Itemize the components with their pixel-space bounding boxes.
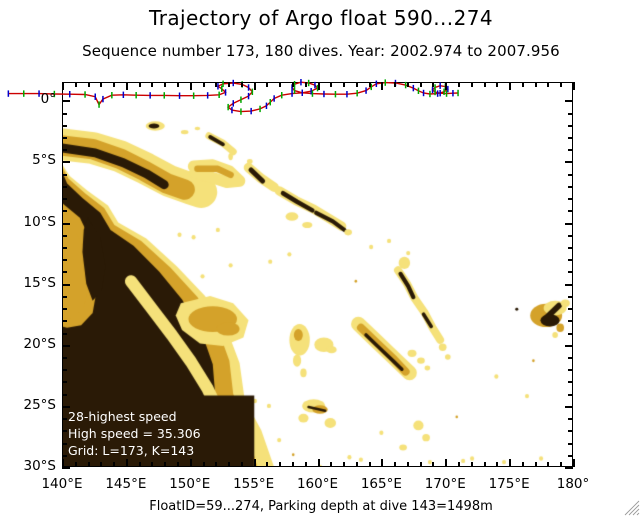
x-minor-tick-top [139, 82, 141, 87]
x-minor-tick [266, 462, 268, 467]
x-minor-tick [292, 462, 294, 467]
x-minor-tick [241, 462, 243, 467]
x-major-tick-top [190, 82, 192, 90]
y-minor-tick-right [568, 210, 573, 212]
y-minor-tick [62, 259, 67, 261]
x-major-tick [509, 459, 511, 467]
y-minor-tick-right [568, 271, 573, 273]
page-title: Trajectory of Argo float 590...274 [0, 6, 642, 30]
y-minor-tick [62, 271, 67, 273]
x-minor-tick-top [484, 82, 486, 87]
x-minor-tick-top [177, 82, 179, 87]
y-major-tick [62, 161, 70, 163]
y-minor-tick-right [568, 235, 573, 237]
y-minor-tick-right [568, 174, 573, 176]
x-minor-tick-top [432, 82, 434, 87]
figure-subtitle: Sequence number 173, 180 dives. Year: 20… [0, 42, 642, 60]
x-major-tick [573, 459, 575, 467]
resize-grip-icon[interactable] [624, 500, 640, 516]
y-minor-tick [62, 320, 67, 322]
y-minor-tick [62, 186, 67, 188]
x-major-tick [126, 459, 128, 467]
y-minor-tick [62, 149, 67, 151]
x-minor-tick [407, 462, 409, 467]
legend-line-highest-speed: 28-highest speed [68, 408, 201, 425]
x-minor-tick [203, 462, 205, 467]
y-axis-tick-label: 10°S [2, 214, 56, 230]
y-axis-tick-label: 15°S [2, 275, 56, 291]
x-minor-tick-top [215, 82, 217, 87]
y-major-tick [62, 223, 70, 225]
y-minor-tick-right [568, 113, 573, 115]
y-minor-tick-right [568, 369, 573, 371]
x-minor-tick [228, 462, 230, 467]
y-minor-tick-right [568, 125, 573, 127]
x-minor-tick [484, 462, 486, 467]
x-minor-tick-top [100, 82, 102, 87]
x-minor-tick-top [228, 82, 230, 87]
x-minor-tick-top [330, 82, 332, 87]
y-minor-tick-right [568, 247, 573, 249]
x-major-tick-top [381, 82, 383, 90]
x-major-tick [381, 459, 383, 467]
y-minor-tick [62, 357, 67, 359]
y-minor-tick [62, 333, 67, 335]
x-major-tick-top [318, 82, 320, 90]
y-axis-tick-label: 30°S [2, 458, 56, 474]
x-minor-tick [177, 462, 179, 467]
y-minor-tick-right [568, 149, 573, 151]
y-minor-tick [62, 137, 67, 139]
x-minor-tick-top [420, 82, 422, 87]
x-minor-tick-top [369, 82, 371, 87]
y-minor-tick-right [568, 137, 573, 139]
x-minor-tick [139, 462, 141, 467]
x-minor-tick-top [458, 82, 460, 87]
x-minor-tick-top [407, 82, 409, 87]
y-axis-tick-label: 20°S [2, 336, 56, 352]
x-minor-tick [522, 462, 524, 467]
x-minor-tick-top [241, 82, 243, 87]
x-major-tick [254, 459, 256, 467]
x-minor-tick [560, 462, 562, 467]
y-major-tick-right [565, 345, 573, 347]
x-minor-tick [151, 462, 153, 467]
y-axis-tick-label: 5°S [2, 152, 56, 168]
x-major-tick [318, 459, 320, 467]
y-minor-tick [62, 210, 67, 212]
x-major-tick-top [126, 82, 128, 90]
legend-line-grid: Grid: L=173, K=143 [68, 442, 201, 459]
y-minor-tick-right [568, 394, 573, 396]
x-major-tick-top [573, 82, 575, 90]
x-minor-tick-top [356, 82, 358, 87]
x-minor-tick-top [560, 82, 562, 87]
x-minor-tick-top [88, 82, 90, 87]
y-major-tick-right [565, 161, 573, 163]
x-axis-tick-label: 180° [533, 476, 613, 492]
x-minor-tick-top [535, 82, 537, 87]
x-major-tick-top [62, 82, 64, 90]
y-minor-tick [62, 308, 67, 310]
y-minor-tick-right [568, 186, 573, 188]
y-minor-tick-right [568, 381, 573, 383]
x-minor-tick-top [292, 82, 294, 87]
x-minor-tick [420, 462, 422, 467]
x-minor-tick [356, 462, 358, 467]
y-axis-tick-label: 0° [2, 91, 56, 107]
x-major-tick [445, 459, 447, 467]
x-major-tick-top [445, 82, 447, 90]
x-minor-tick [305, 462, 307, 467]
x-minor-tick [547, 462, 549, 467]
y-minor-tick-right [568, 333, 573, 335]
x-minor-tick-top [496, 82, 498, 87]
x-minor-tick-top [203, 82, 205, 87]
y-minor-tick [62, 247, 67, 249]
x-minor-tick-top [471, 82, 473, 87]
y-minor-tick [62, 394, 67, 396]
x-major-tick [62, 459, 64, 467]
x-minor-tick-top [522, 82, 524, 87]
y-minor-tick [62, 235, 67, 237]
x-minor-tick [496, 462, 498, 467]
x-minor-tick-top [266, 82, 268, 87]
x-minor-tick [394, 462, 396, 467]
x-minor-tick-top [305, 82, 307, 87]
y-minor-tick [62, 198, 67, 200]
y-minor-tick [62, 125, 67, 127]
speed-legend: 28-highest speed High speed = 35.306 Gri… [68, 408, 201, 459]
y-major-tick-right [565, 406, 573, 408]
y-minor-tick [62, 381, 67, 383]
y-minor-tick-right [568, 418, 573, 420]
x-minor-tick [100, 462, 102, 467]
x-minor-tick-top [113, 82, 115, 87]
x-major-tick-top [254, 82, 256, 90]
y-minor-tick [62, 430, 67, 432]
y-major-tick-right [565, 284, 573, 286]
x-minor-tick [215, 462, 217, 467]
x-minor-tick [369, 462, 371, 467]
y-major-tick-right [565, 100, 573, 102]
y-major-tick-right [565, 467, 573, 469]
y-major-tick [62, 100, 70, 102]
x-minor-tick-top [164, 82, 166, 87]
y-minor-tick-right [568, 259, 573, 261]
y-minor-tick [62, 418, 67, 420]
argo-trajectory-figure: Trajectory of Argo float 590...274 Seque… [0, 0, 642, 518]
x-minor-tick [279, 462, 281, 467]
y-minor-tick-right [568, 198, 573, 200]
x-minor-tick [432, 462, 434, 467]
y-minor-tick [62, 113, 67, 115]
y-minor-tick-right [568, 443, 573, 445]
x-minor-tick-top [343, 82, 345, 87]
y-major-tick [62, 345, 70, 347]
x-minor-tick [164, 462, 166, 467]
y-minor-tick-right [568, 308, 573, 310]
x-minor-tick [343, 462, 345, 467]
y-minor-tick [62, 443, 67, 445]
y-minor-tick-right [568, 296, 573, 298]
x-minor-tick [458, 462, 460, 467]
y-minor-tick [62, 174, 67, 176]
y-minor-tick [62, 455, 67, 457]
x-minor-tick-top [75, 82, 77, 87]
x-minor-tick-top [547, 82, 549, 87]
y-minor-tick-right [568, 320, 573, 322]
x-minor-tick-top [151, 82, 153, 87]
y-major-tick [62, 406, 70, 408]
figure-footer-caption: FloatID=59...274, Parking depth at dive … [0, 499, 642, 514]
x-major-tick-top [509, 82, 511, 90]
x-minor-tick [75, 462, 77, 467]
x-minor-tick [330, 462, 332, 467]
x-minor-tick [535, 462, 537, 467]
x-major-tick [190, 459, 192, 467]
x-minor-tick-top [394, 82, 396, 87]
legend-line-high-speed-value: High speed = 35.306 [68, 425, 201, 442]
x-minor-tick [113, 462, 115, 467]
y-minor-tick [62, 369, 67, 371]
y-major-tick [62, 467, 70, 469]
y-major-tick-right [565, 223, 573, 225]
y-axis-tick-label: 25°S [2, 397, 56, 413]
y-minor-tick-right [568, 430, 573, 432]
y-minor-tick-right [568, 357, 573, 359]
y-minor-tick-right [568, 455, 573, 457]
x-minor-tick [471, 462, 473, 467]
y-major-tick [62, 284, 70, 286]
x-minor-tick-top [279, 82, 281, 87]
y-minor-tick [62, 296, 67, 298]
x-minor-tick [88, 462, 90, 467]
